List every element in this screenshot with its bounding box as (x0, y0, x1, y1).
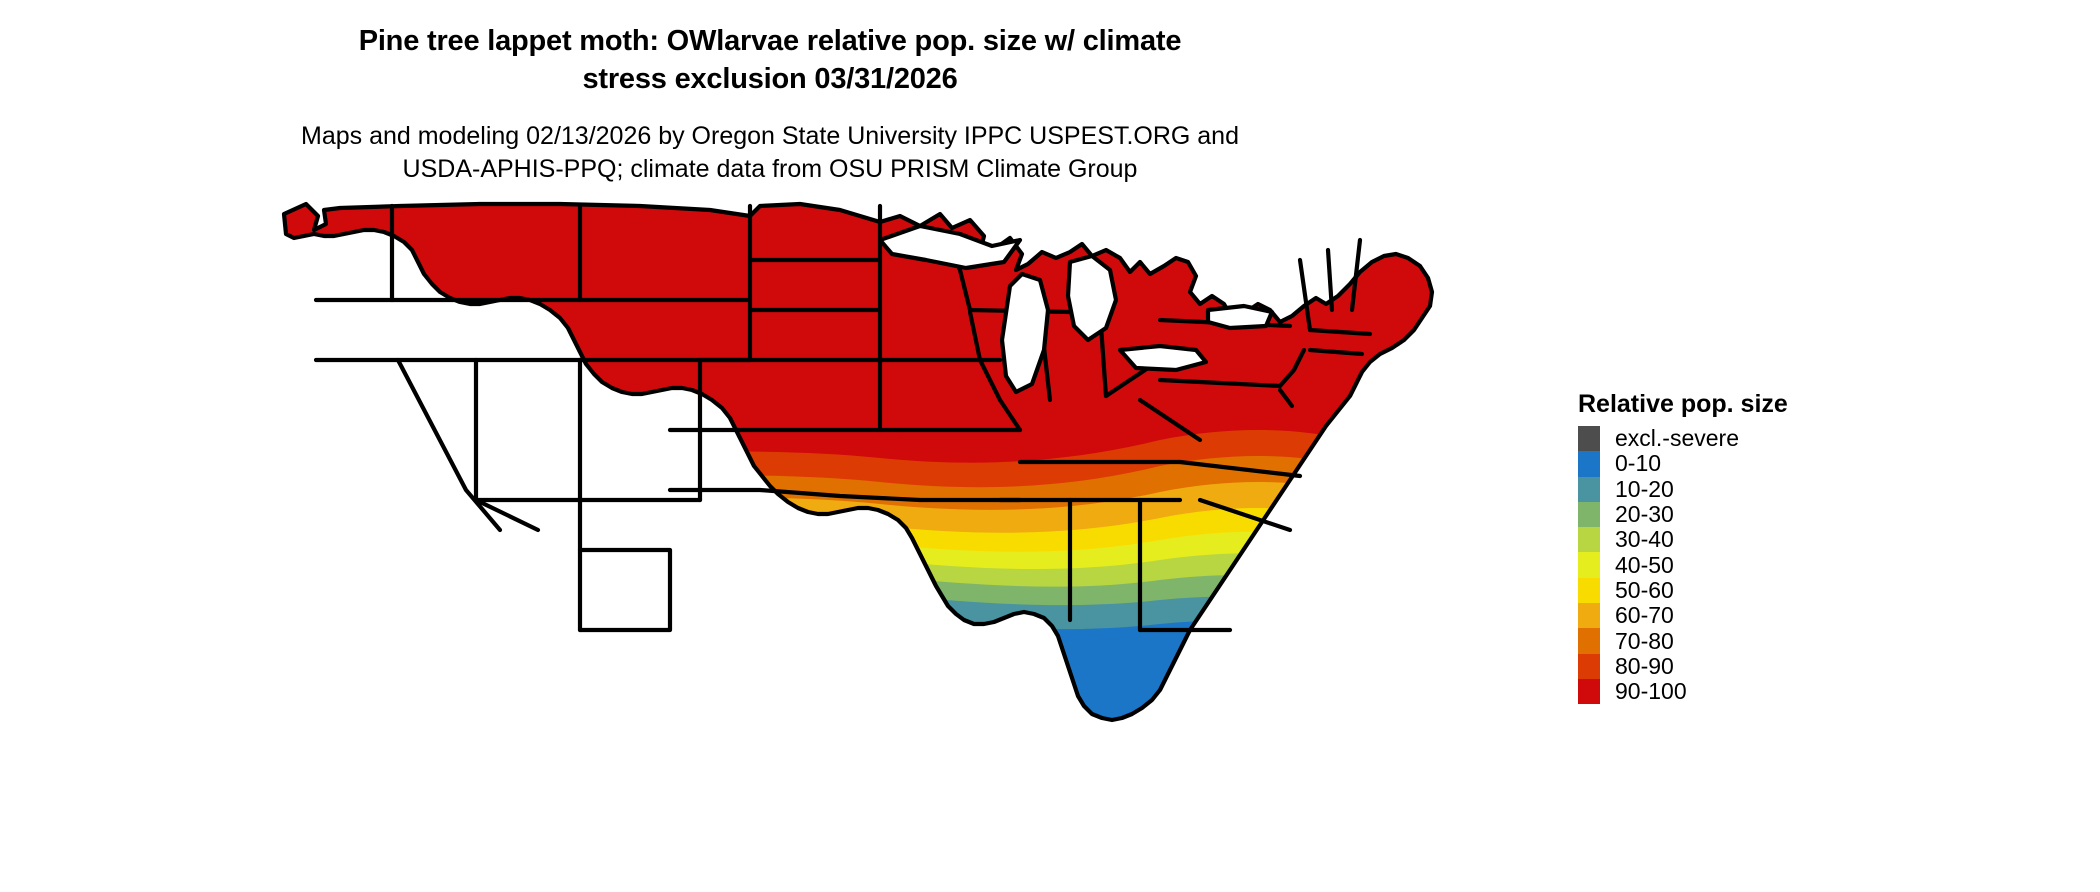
legend-label: 30-40 (1615, 527, 1674, 552)
legend-label: 0-10 (1615, 451, 1661, 476)
band-0-10-arizona (480, 498, 688, 670)
legend-label: 20-30 (1615, 502, 1674, 527)
band-0-10-desert (356, 464, 616, 670)
legend-color-swatch (1578, 603, 1600, 628)
legend-label: 10-20 (1615, 477, 1674, 502)
legend-label: 60-70 (1615, 603, 1674, 628)
legend-row: 70-80 (1578, 628, 1908, 653)
legend-items: excl.-severe0-1010-2020-3030-4040-5050-6… (1578, 426, 1908, 704)
legend-label: 50-60 (1615, 578, 1674, 603)
legend-row: 40-50 (1578, 552, 1908, 577)
title-line-1: Pine tree lappet moth: OWlarvae relative… (0, 22, 1540, 60)
legend-row: 10-20 (1578, 477, 1908, 502)
legend-title: Relative pop. size (1578, 390, 1908, 418)
legend-color-swatch (1578, 426, 1600, 451)
map-canvas (280, 200, 1570, 880)
legend-label: 90-100 (1615, 679, 1687, 704)
legend-color-swatch (1578, 527, 1600, 552)
legend-row: 30-40 (1578, 527, 1908, 552)
lake-erie (1120, 346, 1206, 370)
legend-label: 70-80 (1615, 629, 1674, 654)
legend-color-swatch (1578, 552, 1600, 577)
border-nm-tx (580, 550, 670, 630)
band-0-10-south (560, 606, 1316, 880)
band-0-10-texas (560, 604, 1040, 880)
legend-row: 90-100 (1578, 679, 1908, 704)
legend-label: excl.-severe (1615, 426, 1739, 451)
page-subtitle: Maps and modeling 02/13/2026 by Oregon S… (0, 120, 1540, 186)
page-title: Pine tree lappet moth: OWlarvae relative… (0, 22, 1540, 98)
band-20-30-south (580, 569, 1326, 880)
legend-row: 50-60 (1578, 578, 1908, 603)
legend-row: 60-70 (1578, 603, 1908, 628)
legend-label: 80-90 (1615, 654, 1674, 679)
legend-color-swatch (1578, 502, 1600, 527)
legend-label: 40-50 (1615, 553, 1674, 578)
legend-color-swatch (1578, 578, 1600, 603)
subtitle-line-2: USDA-APHIS-PPQ; climate data from OSU PR… (0, 153, 1540, 186)
band-10-20-ca-rim (332, 369, 388, 410)
map-legend: Relative pop. size excl.-severe0-1010-20… (1578, 390, 1908, 704)
legend-color-swatch (1578, 477, 1600, 502)
subtitle-line-1: Maps and modeling 02/13/2026 by Oregon S… (0, 120, 1540, 153)
legend-color-swatch (1578, 654, 1600, 679)
legend-color-swatch (1578, 679, 1600, 704)
legend-color-swatch (1578, 628, 1600, 653)
legend-color-swatch (1578, 451, 1600, 476)
legend-row: 0-10 (1578, 451, 1908, 476)
band-50-60-ca-coast (312, 322, 366, 358)
legend-row: 20-30 (1578, 502, 1908, 527)
band-30-40-ca-coast (320, 348, 376, 386)
legend-row: excl.-severe (1578, 426, 1908, 451)
map-page: Pine tree lappet moth: OWlarvae relative… (0, 0, 2100, 892)
band-0-10-southwest (302, 381, 404, 670)
title-line-2: stress exclusion 03/31/2026 (0, 60, 1540, 98)
band-20-30-ca-rim (326, 361, 388, 402)
band-40-50-ca-coast (316, 336, 370, 372)
lake-ontario (1208, 306, 1272, 328)
legend-row: 80-90 (1578, 654, 1908, 679)
us-map-layers (280, 200, 1570, 880)
